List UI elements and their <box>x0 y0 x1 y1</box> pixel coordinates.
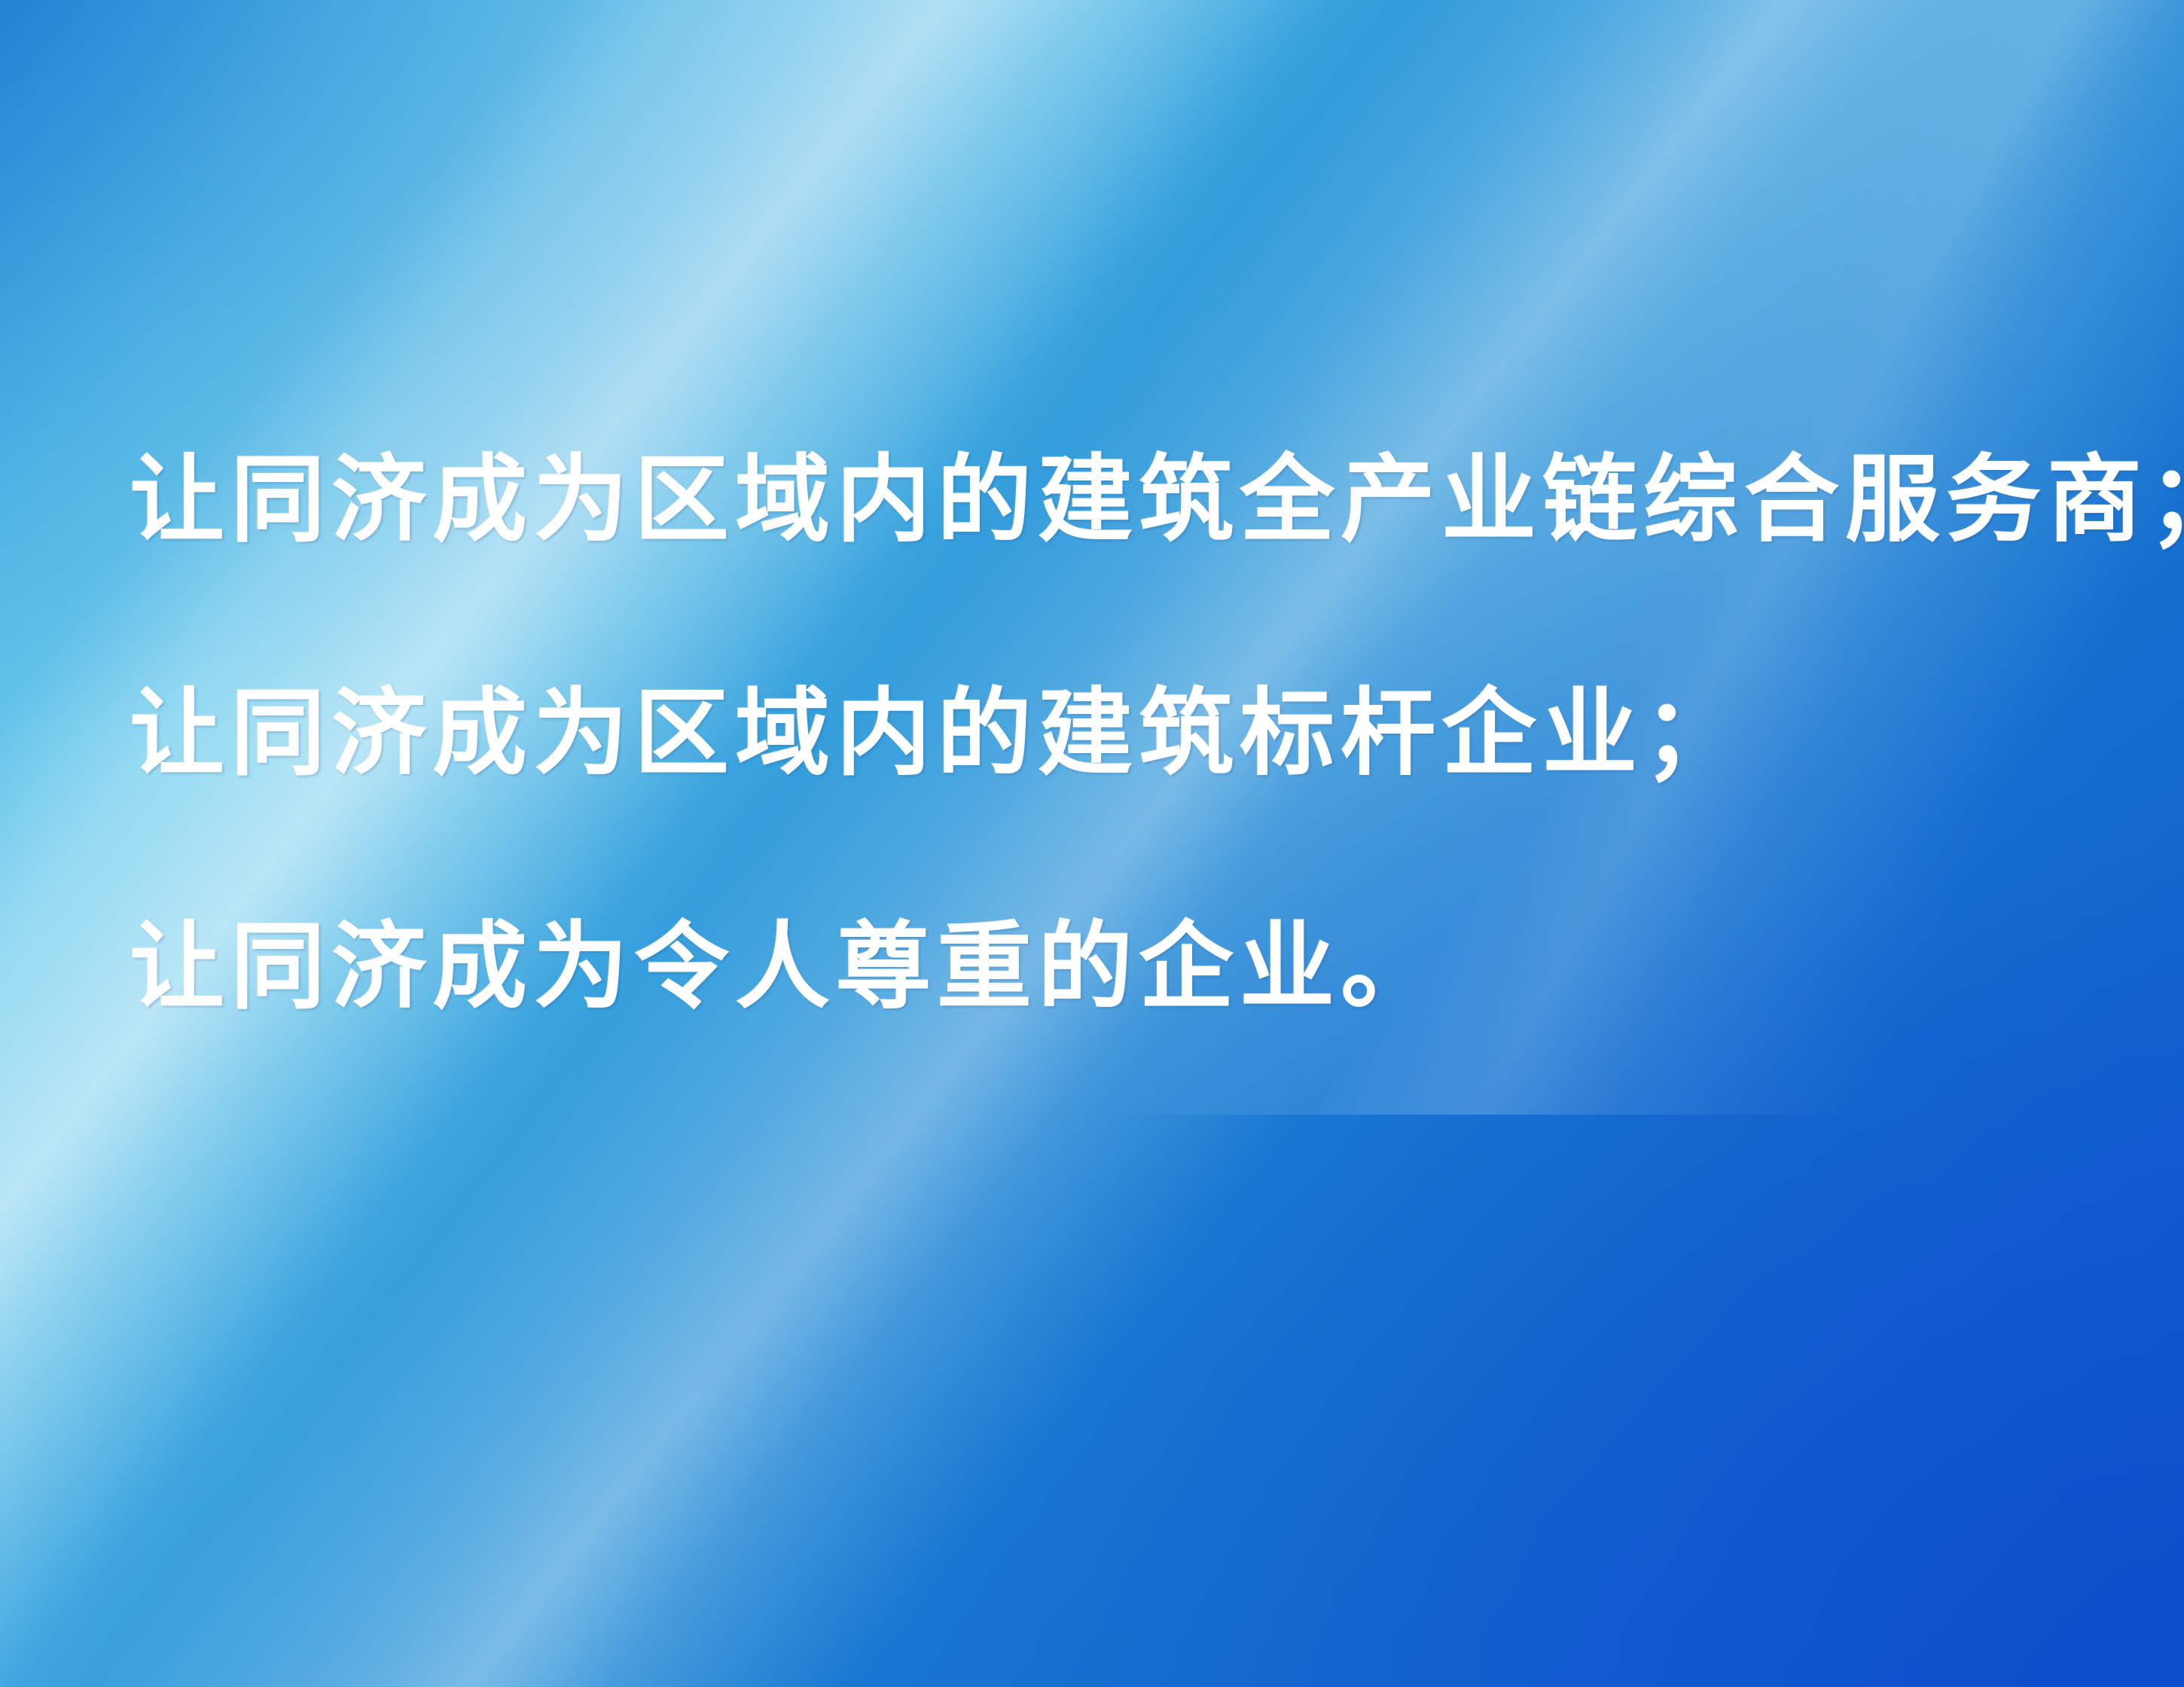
slide-line-2: 让同济成为区域内的建筑标杆企业； <box>130 685 2118 780</box>
slide-line-1: 让同济成为区域内的建筑全产业链综合服务商； <box>130 452 2118 547</box>
slide-text-block: 让同济成为区域内的建筑全产业链综合服务商； 让同济成为区域内的建筑标杆企业； 让… <box>130 452 2118 1014</box>
presentation-slide: 让同济成为区域内的建筑全产业链综合服务商； 让同济成为区域内的建筑标杆企业； 让… <box>0 0 2184 1687</box>
slide-line-3: 让同济成为令人尊重的企业。 <box>130 919 2118 1014</box>
